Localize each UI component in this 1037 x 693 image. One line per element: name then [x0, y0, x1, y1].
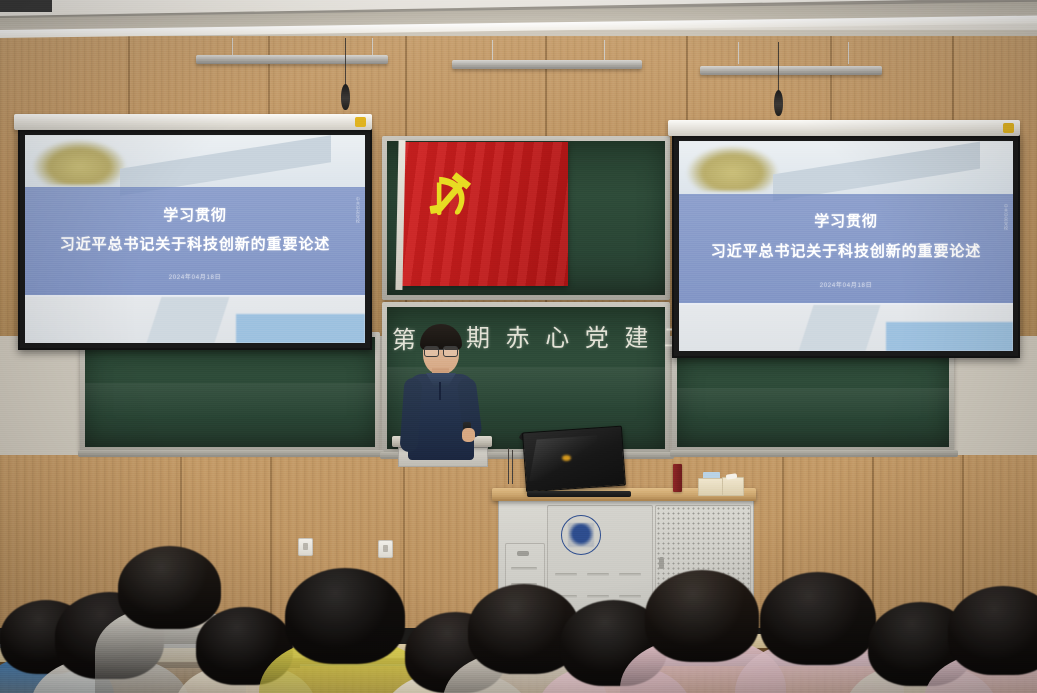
slide-water — [236, 314, 365, 343]
slide-title-main: 学习贯彻 — [679, 210, 1013, 231]
fixture-wire — [232, 38, 233, 56]
audience-hair — [645, 570, 759, 662]
vent-slot — [619, 595, 641, 598]
glasses-lens — [443, 346, 458, 357]
chalk-tray — [78, 450, 384, 457]
slide-water — [886, 322, 1013, 351]
audience-hair — [948, 586, 1037, 675]
right-screen-housing[interactable] — [668, 120, 1020, 136]
slide-title-sub: 习近平总书记关于科技创新的重要论述 — [25, 233, 365, 254]
chalk-dust — [85, 383, 375, 416]
audience-hair — [760, 572, 876, 665]
ceiling-light-fixture — [196, 55, 388, 64]
monitor-cable — [508, 448, 509, 484]
chalkboard-surface — [677, 345, 949, 447]
chalk-tray — [670, 450, 958, 457]
glasses-lens — [424, 346, 439, 357]
hammer-and-sickle-icon — [422, 162, 479, 228]
slide-foliage — [32, 139, 127, 185]
red-book[interactable] — [673, 464, 682, 492]
emblem-inner-mark — [568, 523, 594, 547]
ceiling-light-fixture — [700, 66, 882, 75]
microphone-cable — [778, 42, 779, 92]
wall-outlet[interactable] — [378, 540, 393, 558]
audience-member — [285, 568, 405, 693]
fixture-wire — [492, 40, 493, 60]
wall-outlet[interactable] — [298, 538, 313, 556]
hanging-microphone-icon — [341, 84, 350, 110]
screen-endcap — [355, 117, 366, 127]
chalkboard-left-panel — [80, 332, 380, 452]
microphone-cable — [345, 38, 346, 86]
university-emblem-icon — [561, 515, 601, 555]
right-slide: 学习贯彻 习近平总书记关于科技创新的重要论述 2024年04月18日 中共中央党… — [679, 141, 1013, 351]
computer-monitor[interactable] — [522, 426, 626, 493]
presenter — [406, 316, 478, 462]
drawer-slot — [511, 567, 537, 570]
ceiling-corner-vent — [0, 0, 52, 12]
wall-panel-seam — [270, 455, 272, 630]
vent-slot — [555, 573, 577, 576]
communist-party-flag — [400, 142, 568, 286]
slide-date: 2024年04月18日 — [679, 280, 1013, 289]
drawer-handle[interactable] — [517, 551, 529, 556]
audience-hair — [285, 568, 405, 664]
cream-tissue-box[interactable] — [722, 477, 744, 496]
fixture-wire — [738, 42, 739, 64]
right-projection-screen[interactable]: 学习贯彻 习近平总书记关于科技创新的重要论述 2024年04月18日 中共中央党… — [672, 134, 1020, 358]
slide-title-main: 学习贯彻 — [25, 204, 365, 225]
screen-endcap — [1003, 123, 1014, 133]
audience-member — [948, 586, 1037, 693]
vent-slot — [619, 573, 641, 576]
polo-placket — [439, 382, 441, 400]
fixture-wire — [848, 42, 849, 64]
ceiling-light-fixture — [452, 60, 642, 69]
slide-title-sub: 习近平总书记关于科技创新的重要论述 — [679, 240, 1013, 261]
vent-slot — [587, 595, 609, 598]
audience-member — [760, 572, 876, 693]
presenter-hand — [462, 428, 475, 442]
cabinet-latch[interactable] — [659, 557, 664, 569]
hanging-microphone-icon — [774, 90, 783, 116]
slide-sidebar-text: 中共中央党校 — [1003, 204, 1008, 288]
chalk-dust — [677, 388, 949, 419]
lecture-hall-photo: 学习贯彻 习近平总书记关于科技创新的重要论述 2024年04月18日 中共中央党… — [0, 0, 1037, 693]
fixture-wire — [372, 38, 373, 56]
fixture-wire — [604, 40, 605, 60]
keyboard[interactable] — [527, 491, 631, 497]
cream-tissue-box[interactable] — [698, 478, 725, 496]
left-screen-housing[interactable] — [14, 114, 372, 130]
vent-slot — [587, 573, 609, 576]
glasses-icon — [424, 346, 458, 355]
monitor-cable — [512, 450, 513, 484]
slide-date: 2024年04月18日 — [25, 272, 365, 281]
left-slide: 学习贯彻 习近平总书记关于科技创新的重要论述 2024年04月18日 中共中央党… — [25, 135, 365, 343]
slide-foliage — [686, 145, 780, 191]
slide-sidebar-text: 中共中央党校 — [355, 197, 360, 280]
chalkboard-surface — [85, 337, 375, 447]
left-projection-screen[interactable]: 学习贯彻 习近平总书记关于科技创新的重要论述 2024年04月18日 中共中央党… — [18, 128, 372, 350]
monitor-indicator-light — [562, 455, 571, 461]
